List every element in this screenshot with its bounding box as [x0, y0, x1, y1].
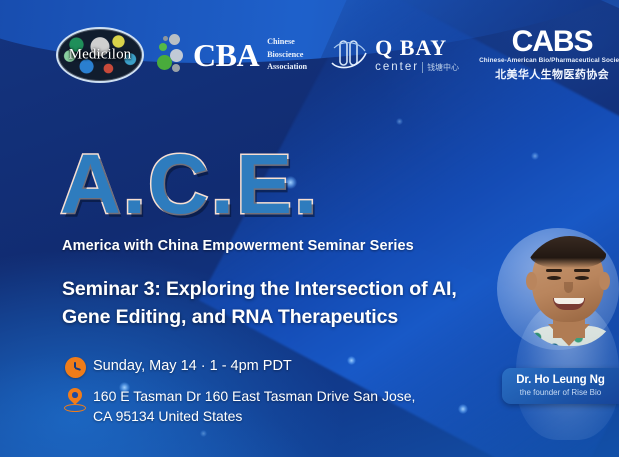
- qbay-logo: Q BAY center 钱塘中心: [329, 35, 459, 75]
- event-address: 160 E Tasman Dr 160 East Tasman Drive Sa…: [88, 387, 415, 427]
- bokeh-dot: [531, 152, 539, 160]
- cba-subtitle-line1: Chinese: [267, 36, 307, 49]
- speaker-role: the founder of Rise Bio: [502, 388, 619, 398]
- cabs-acronym: CABS: [479, 28, 619, 57]
- cba-logo: CBA Chinese Bioscience Association: [156, 33, 307, 77]
- event-details: Sunday, May 14 · 1 - 4pm PDT 160 E Tasma…: [62, 356, 482, 436]
- ace-acronym-title: A.C.E.: [60, 142, 319, 226]
- cabs-chinese-name: 北美华人生物医药协会: [479, 66, 619, 82]
- ace-expansion-subtitle: America with China Empowerment Seminar S…: [62, 238, 414, 254]
- event-date-text: Sunday, May 14 · 1 - 4pm PDT: [88, 356, 292, 377]
- event-date-row: Sunday, May 14 · 1 - 4pm PDT: [62, 356, 482, 378]
- qbay-wordmark: Q BAY center 钱塘中心: [375, 37, 459, 73]
- cba-subtitle-line3: Association: [267, 61, 307, 74]
- speaker-name-card: Dr. Ho Leung Ng the founder of Rise Bio: [502, 368, 619, 404]
- location-pin-icon: [62, 387, 88, 414]
- qbay-name: Q BAY: [375, 37, 459, 59]
- qbay-chinese-label: 钱塘中心: [422, 62, 459, 73]
- qbay-center-label: center: [375, 61, 419, 73]
- event-location-row: 160 E Tasman Dr 160 East Tasman Drive Sa…: [62, 387, 482, 427]
- cba-acronym: CBA: [193, 39, 259, 71]
- qbay-subline: center 钱塘中心: [375, 61, 459, 73]
- clock-icon: [62, 356, 88, 378]
- speaker-name: Dr. Ho Leung Ng: [502, 373, 619, 387]
- cabs-english-name: Chinese-American Bio/Pharmaceutical Soci…: [479, 57, 619, 64]
- medicilon-logo: Medicilon: [56, 27, 144, 83]
- cba-subtitle-line2: Bioscience: [267, 49, 307, 62]
- speaker-portrait: [520, 236, 619, 346]
- medicilon-logo-text: Medicilon: [56, 47, 144, 64]
- seminar-title: Seminar 3: Exploring the Intersection of…: [62, 276, 482, 331]
- event-address-line1: 160 E Tasman Dr 160 East Tasman Drive Sa…: [88, 387, 415, 407]
- qbay-emblem-icon: [329, 35, 369, 75]
- event-poster: Medicilon CBA Chinese Bioscience Associa…: [0, 0, 619, 457]
- cba-molecule-icon: [156, 33, 192, 77]
- event-address-line2: CA 95134 United States: [88, 407, 415, 427]
- cabs-logo: CABS Chinese-American Bio/Pharmaceutical…: [479, 28, 619, 83]
- bokeh-dot: [396, 118, 403, 125]
- cba-subtitle: Chinese Bioscience Association: [267, 36, 307, 74]
- sponsor-logo-bar: Medicilon CBA Chinese Bioscience Associa…: [0, 22, 619, 88]
